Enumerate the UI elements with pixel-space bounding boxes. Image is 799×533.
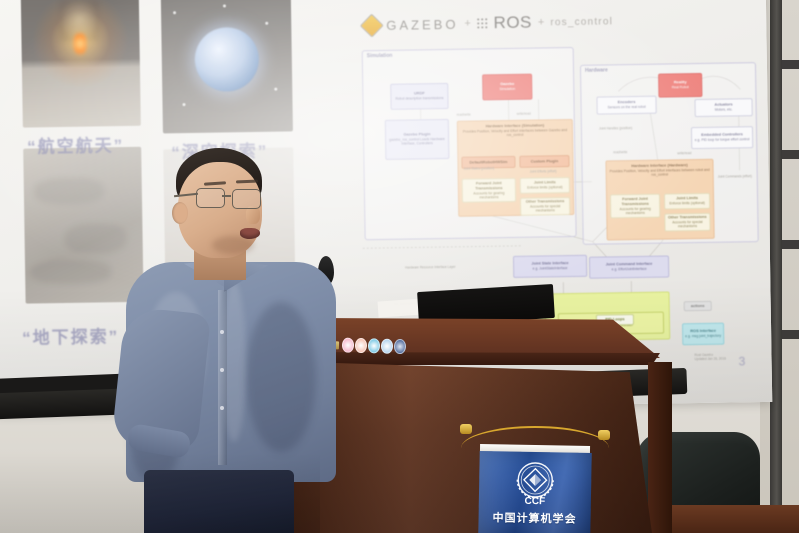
- screenshot-root: “航空航天” “深空探索” “地下探索” 机器人仿真平台选择 GAZEBO + …: [0, 0, 799, 533]
- node-forward-transmissions-hw: Forward Joint TransmissionsAccounts for …: [610, 194, 660, 219]
- banner-knob-left: [460, 424, 472, 434]
- wall-notch: [782, 60, 799, 69]
- ros-dots-icon: [477, 18, 488, 29]
- group-label-simulation: Simulation: [367, 53, 393, 59]
- wall-trim-strip: [770, 0, 782, 533]
- node-gazebo: GazeboSimulation: [482, 74, 532, 101]
- slide-caption-aerospace: “航空航天”: [27, 131, 124, 158]
- edge-label-joint-states: Joint States (position): [464, 166, 495, 170]
- group-label-hardware: Hardware: [585, 67, 608, 73]
- plus-icon: +: [464, 18, 471, 30]
- slide-headline: 机器人仿真平台选择: [439, 0, 628, 2]
- speaker-mouth: [240, 228, 260, 239]
- edge-label-joint-efforts: Joint Efforts (effort): [530, 169, 557, 173]
- node-actions: actions: [684, 301, 712, 311]
- edge-label-writeread-1: write/read: [517, 112, 531, 116]
- edge-label-joint-handles: Joint Handles (position): [599, 126, 632, 131]
- wall-notch: [782, 240, 799, 249]
- speaker-glasses-icon: [196, 188, 268, 208]
- node-joint-limits-hw: Joint LimitsEnforce limits (optional): [664, 193, 710, 210]
- gazebo-cube-icon: [360, 13, 384, 37]
- wall-notch: [782, 330, 799, 339]
- slide-photo-aerospace: [21, 0, 141, 128]
- node-encoders: EncodersSensors on the real robot: [596, 96, 656, 115]
- node-reality: RealityReal Robot: [658, 73, 702, 98]
- ccf-logo-icon: CCF: [507, 460, 564, 507]
- node-embedded-controllers: Embedded Controllerse.g. PID loop for to…: [691, 126, 753, 149]
- speaker-ear: [172, 202, 188, 224]
- sticker-navy-icon: [394, 339, 406, 354]
- plus-icon: +: [538, 16, 545, 28]
- layer-label: Hardware Resource Interface Layer: [405, 265, 456, 270]
- brand-row: GAZEBO + ROS + ros_control: [363, 11, 613, 35]
- foreground-shadow: [0, 452, 320, 533]
- edge-label-writeread-2: write/read: [677, 151, 691, 155]
- node-joint-state-interface: Joint State Interfacee.g. JointStateInte…: [513, 255, 587, 278]
- lectern-right-side: [648, 362, 672, 533]
- node-other-transmissions-hw: Other TransmissionsAccounts for special …: [664, 213, 710, 232]
- node-joint-limits-sim: Joint LimitsEnforce limits (optional): [520, 177, 570, 194]
- banner-knob-right: [598, 430, 610, 440]
- slide-photo-deep-space: [161, 0, 293, 133]
- node-joint-command-interface: Joint Command Interfacee.g. EffortJointI…: [589, 255, 669, 278]
- sticker-cyan-icon: [368, 338, 380, 353]
- svg-text:CCF: CCF: [524, 496, 545, 507]
- sticker-pink-icon: [342, 338, 354, 353]
- node-urdf: URDFRobot description transmissions: [390, 83, 448, 110]
- node-gazebo-plugin: Gazebo Plugingazebo_ros_control Loads Ha…: [385, 119, 450, 160]
- ros-control-wordmark: ros_control: [550, 16, 613, 28]
- planet-shape: [194, 27, 259, 92]
- node-custom-plugin: Custom Plugin: [519, 155, 569, 168]
- sticker-salmon-icon: [355, 338, 367, 353]
- slide-page-number: 3: [739, 354, 746, 368]
- table-edge: [672, 505, 799, 533]
- wall-notch: [782, 150, 799, 159]
- thruster-flame: [73, 31, 86, 57]
- node-other-transmissions-sim: Other TransmissionsAccounts for special …: [520, 197, 570, 216]
- node-ros-interface: ROS Interfacee.g. msg joint_trajectory: [682, 323, 724, 346]
- ccf-banner: CCF 中国计算机学会: [454, 424, 614, 533]
- edge-label-joint-commands: Joint Commands (effort): [718, 174, 752, 179]
- edge-label-readwrite-2: read/write: [613, 150, 627, 154]
- diagram-footnote: Rost Gazebo Updated Jan 26, 2016: [694, 353, 725, 361]
- slide-headline-blue: 机器人: [439, 0, 502, 1]
- edge-label-readwrite-1: read/write: [457, 113, 471, 117]
- banner-cloth: CCF 中国计算机学会: [478, 451, 591, 533]
- node-actuators: ActuatorsMotors, etc.: [694, 98, 752, 117]
- node-forward-transmissions-sim: Forward Joint TransmissionsAccounts for …: [462, 178, 516, 203]
- sticker-lightblue-icon: [381, 339, 393, 354]
- slide-caption-underground: “地下探索”: [22, 322, 119, 349]
- gazebo-wordmark: GAZEBO: [386, 16, 458, 32]
- ros-wordmark: ROS: [493, 13, 532, 34]
- speaker-shirt-placket: [218, 290, 227, 465]
- banner-text: 中国计算机学会: [478, 509, 590, 527]
